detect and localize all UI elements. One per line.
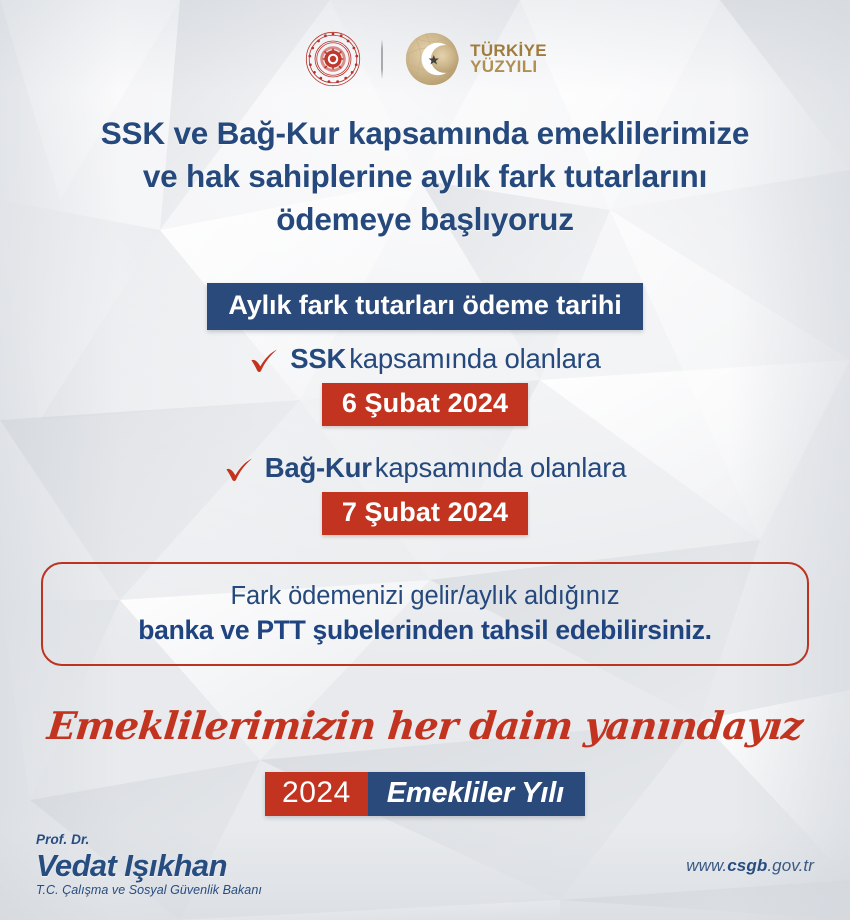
headline-line-3: ödemeye başlıyoruz [0,198,850,241]
year-badge-label: Emekliler Yılı [368,772,585,816]
bagkur-name: Bağ-Kur [265,452,372,484]
website-url[interactable]: www.csgb.gov.tr [686,856,814,876]
ssk-date-wrap: 6 Şubat 2024 [0,383,850,426]
century-line-2: YÜZYILI [470,59,547,75]
turkiye-century-logo: TÜRKİYE YÜZYILI [401,30,547,88]
headline-line-1: SSK ve Bağ-Kur kapsamında emeklilerimize [0,112,850,155]
signature-title: Prof. Dr. [36,833,262,848]
headline: SSK ve Bağ-Kur kapsamında emeklilerimize… [0,112,850,241]
slogan-script: Emeklilerimizin her daim yanındayız [0,703,850,748]
payment-date-banner: Aylık fark tutarları ödeme tarihi [207,283,642,330]
bagkur-date-badge: 7 Şubat 2024 [322,492,528,535]
note-line-2: banka ve PTT şubelerinden tahsil edebili… [138,615,711,646]
year-badge: 2024 Emekliler Yılı [265,772,585,816]
signature-role: T.C. Çalışma ve Sosyal Güvenlik Bakanı [36,884,262,898]
headline-line-2: ve hak sahiplerine aylık fark tutarların… [0,155,850,198]
bagkur-suffix: kapsamında olanlara [375,452,627,484]
bagkur-date-wrap: 7 Şubat 2024 [0,492,850,535]
bagkur-label-line: Bağ-Kur kapsamında olanlara [0,452,850,484]
collection-note-box: Fark ödemenizi gelir/aylık aldığınız ban… [41,562,809,666]
ministry-emblem-icon [303,30,363,88]
year-badge-year: 2024 [265,772,368,816]
payment-date-banner-wrap: Aylık fark tutarları ödeme tarihi [0,283,850,330]
minister-signature: Prof. Dr. Vedat Işıkhan T.C. Çalışma ve … [36,833,262,898]
ssk-row: SSK kapsamında olanlara 6 Şubat 2024 [0,343,850,426]
logo-divider [381,39,383,79]
year-badge-wrap: 2024 Emekliler Yılı [0,772,850,816]
check-mark-icon [249,347,279,373]
turkiye-century-crescent-icon [401,30,463,88]
century-wordmark: TÜRKİYE YÜZYILI [470,43,547,76]
website-prefix: www. [686,856,727,875]
bagkur-row: Bağ-Kur kapsamında olanlara 7 Şubat 2024 [0,452,850,535]
ssk-label-line: SSK kapsamında olanlara [0,343,850,375]
header-logo-row: TÜRKİYE YÜZYILI [0,28,850,90]
poster-canvas: TÜRKİYE YÜZYILI SSK ve Bağ-Kur kapsamınd… [0,0,850,920]
website-brand: csgb [727,856,767,875]
note-line-1: Fark ödemenizi gelir/aylık aldığınız [231,582,620,611]
ssk-name: SSK [290,343,346,375]
website-suffix: .gov.tr [767,856,814,875]
ssk-date-badge: 6 Şubat 2024 [322,383,528,426]
check-mark-icon [224,456,254,482]
signature-name: Vedat Işıkhan [36,849,262,882]
ssk-suffix: kapsamında olanlara [349,343,601,375]
